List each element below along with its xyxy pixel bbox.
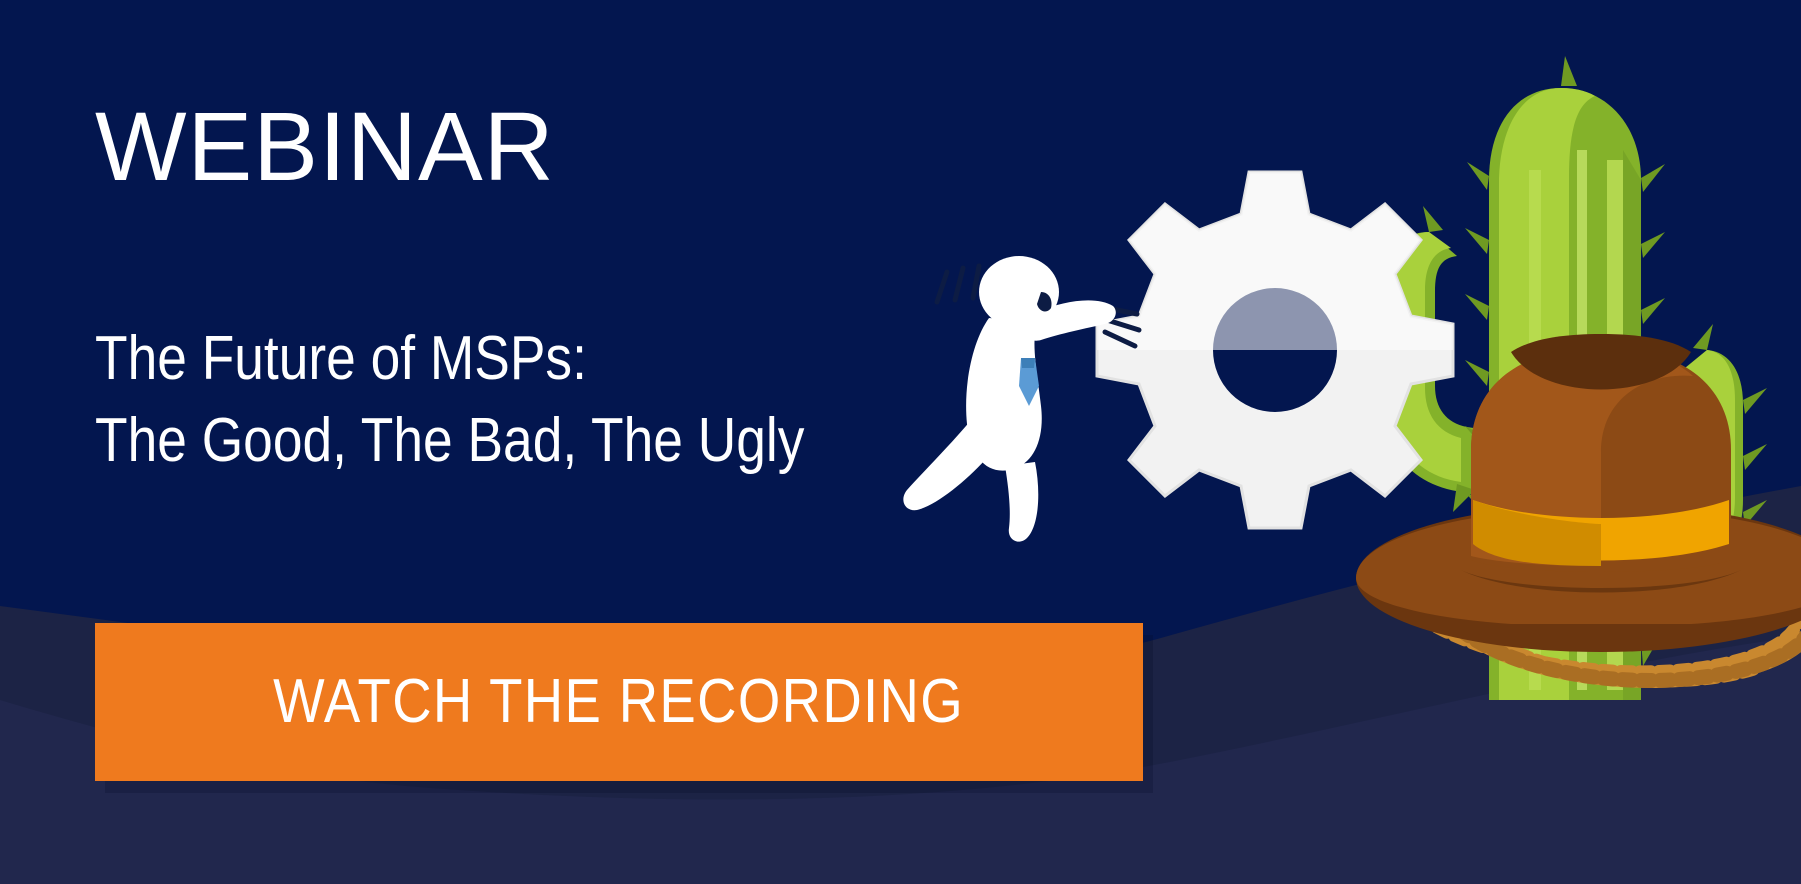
webinar-promo-banner: WEBINAR The Future of MSPs: The Good, Th… <box>0 0 1801 884</box>
headline-line-1: The Future of MSPs: <box>95 318 804 400</box>
cta-button-label: WATCH THE RECORDING <box>274 671 965 733</box>
watch-the-recording-button[interactable]: WATCH THE RECORDING <box>95 623 1143 781</box>
page-title: The Future of MSPs: The Good, The Bad, T… <box>95 318 804 482</box>
eyebrow-label: WEBINAR <box>95 98 555 195</box>
headline-line-2: The Good, The Bad, The Ugly <box>95 400 804 482</box>
